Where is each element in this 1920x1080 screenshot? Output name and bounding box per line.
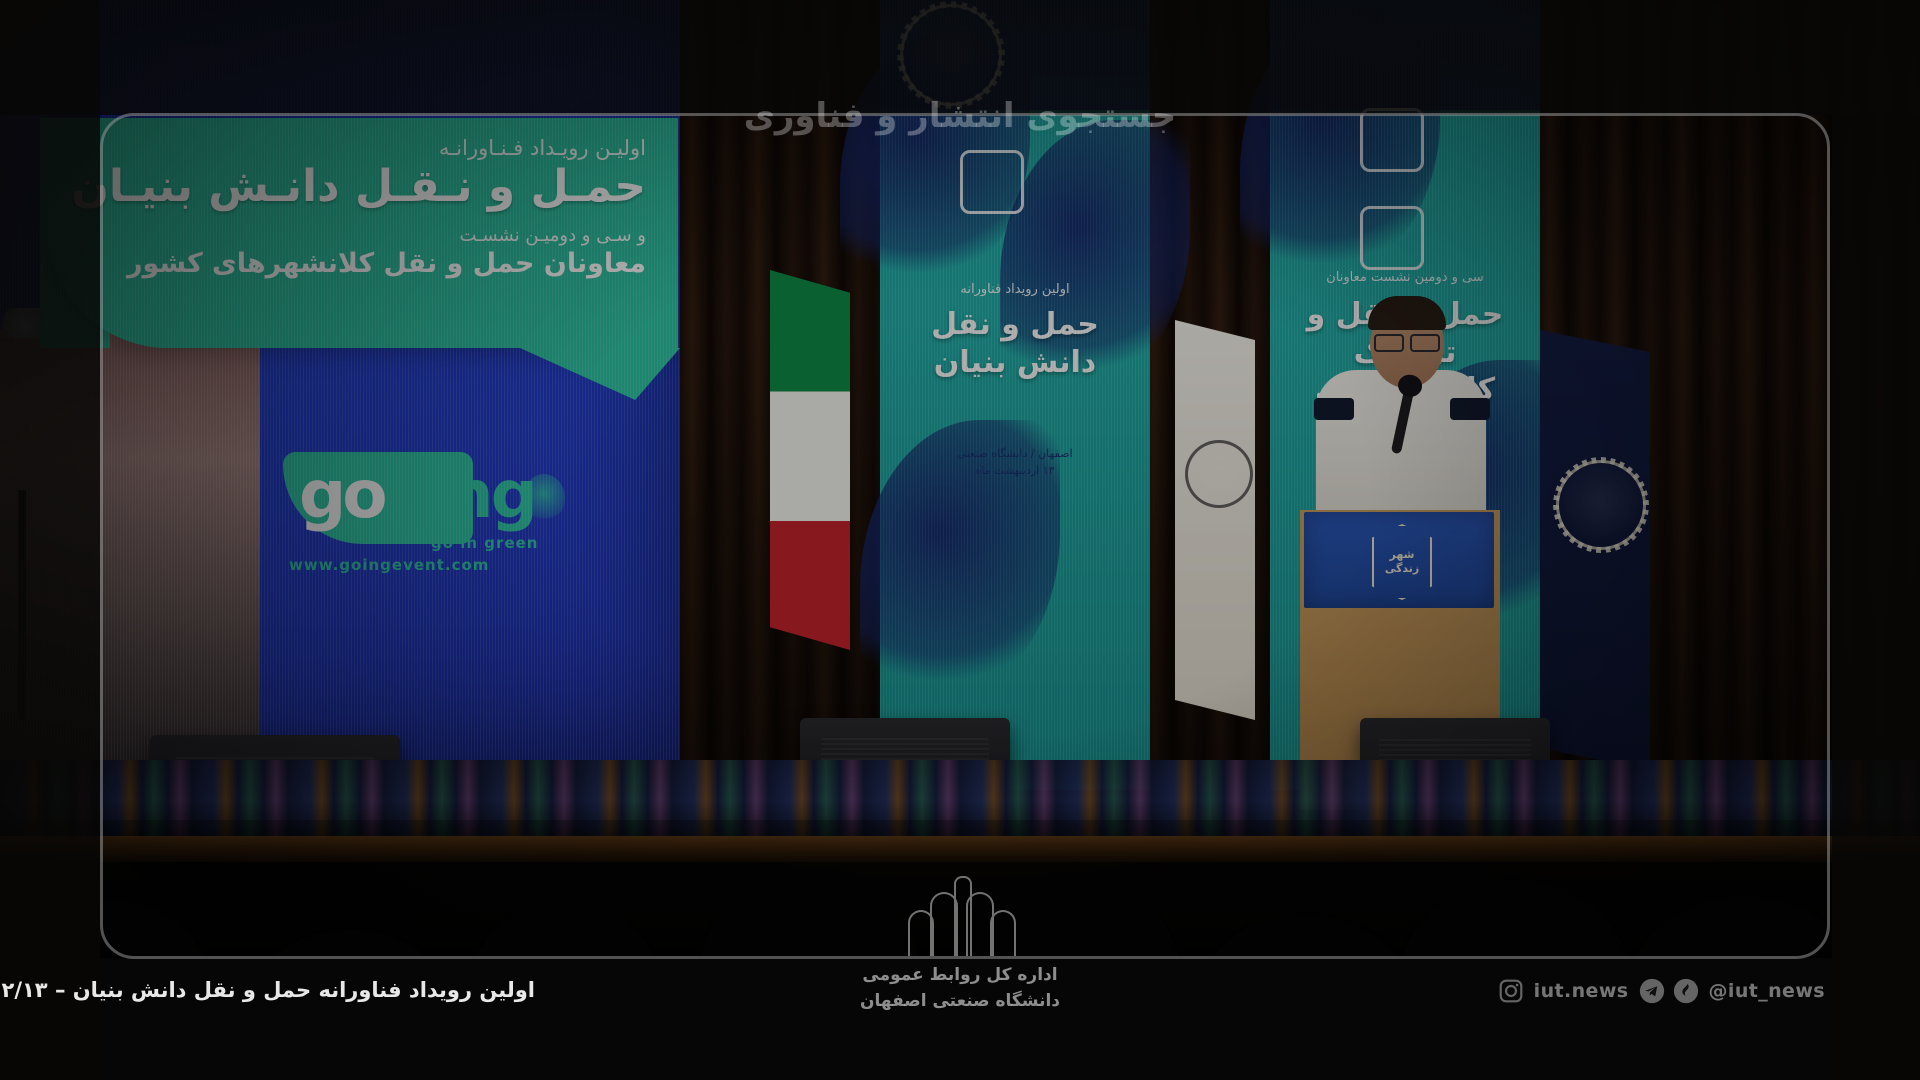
led-scanline-overlay — [0, 0, 680, 760]
gear-ring-icon — [897, 1, 1005, 109]
iut-flag — [1540, 330, 1650, 770]
banner-center: اولین رویداد فناورانه حمل و نقل دانش بنی… — [880, 0, 1150, 790]
isfahan-city-emblem: شهر زندگی — [1372, 524, 1432, 600]
audience-head — [700, 870, 920, 1080]
iut-flag-seal-icon — [1556, 460, 1646, 550]
event-photograph: اولیـن رویـداد فـنـاورانـه حمـل و نـقـل … — [0, 0, 1920, 1080]
podium-emblem-line1: شهر زندگی — [1374, 548, 1430, 576]
speaker-hair — [1368, 296, 1446, 330]
gear-ring-icon — [1553, 457, 1649, 553]
telegram-icon[interactable] — [1639, 978, 1665, 1004]
audience-head — [1200, 915, 1410, 1080]
isfahan-municipality-flag — [1175, 320, 1255, 720]
social-links[interactable]: iut.news @iut_news — [1498, 978, 1825, 1004]
instagram-icon[interactable] — [1498, 978, 1524, 1004]
rank-epaulette-left — [1314, 398, 1354, 420]
photo-card: اولیـن رویـداد فـنـاورانـه حمـل و نـقـل … — [0, 0, 1920, 1080]
instagram-handle[interactable]: iut.news — [1534, 980, 1629, 1002]
glasses-icon — [1374, 334, 1440, 348]
audience-head — [250, 930, 450, 1080]
municipality-seal-icon — [1185, 440, 1253, 508]
audience-head — [950, 875, 1180, 1080]
iran-flag — [770, 270, 850, 650]
banner-texture — [880, 0, 1150, 790]
telegram-eitaa-handle[interactable]: @iut_news — [1709, 980, 1826, 1002]
iut-seal-icon — [900, 4, 1002, 106]
led-video-wall: اولیـن رویـداد فـنـاورانـه حمـل و نـقـل … — [0, 0, 680, 760]
rank-epaulette-right — [1450, 398, 1490, 420]
photo-caption: اولین رویداد فناورانه حمل و نقل دانش بنی… — [0, 978, 535, 1002]
eitaa-icon[interactable] — [1673, 978, 1699, 1004]
